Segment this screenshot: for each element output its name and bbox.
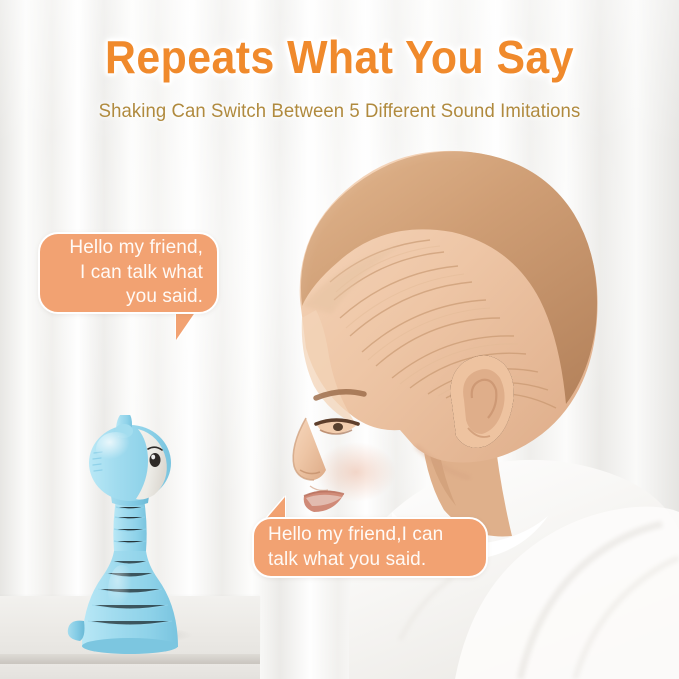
title-block: Repeats What You Say Shaking Can Switch … <box>0 30 679 123</box>
product-marketing-image: Repeats What You Say Shaking Can Switch … <box>0 0 679 679</box>
speech-bubble-top: Hello my friend, I can talk what you sai… <box>38 232 219 314</box>
speech-bubble-bottom-text: Hello my friend,I can talk what you said… <box>268 523 443 572</box>
page-title: Repeats What You Say <box>24 30 655 84</box>
speech-bubble-top-text: Hello my friend, I can talk what you sai… <box>69 236 203 310</box>
baby-rattle-toy <box>60 415 200 660</box>
speech-bubble-bottom: Hello my friend,I can talk what you said… <box>252 517 488 578</box>
page-subtitle: Shaking Can Switch Between 5 Different S… <box>17 100 662 123</box>
